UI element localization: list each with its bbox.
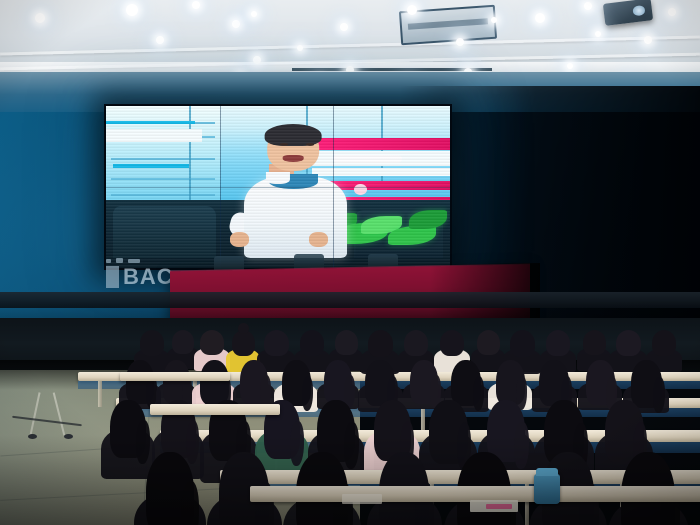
speaker-right-hand (309, 232, 328, 247)
screen-panel-seam (106, 187, 450, 188)
backdrop-pill-graphic (333, 155, 402, 163)
speaker-shirt (244, 177, 347, 258)
ceiling-downlight (126, 4, 138, 16)
desk-leg (98, 381, 102, 407)
speaker-left-hand (230, 232, 249, 247)
ceiling-downlight (232, 20, 240, 28)
ceiling-downlight (407, 5, 417, 15)
ceiling-downlight (192, 1, 200, 9)
attendee-hair (440, 330, 464, 356)
ceiling-downlight (340, 23, 348, 31)
mic-stand-foot (28, 434, 37, 439)
backdrop-cyan-bar (113, 164, 189, 168)
desk-paper (342, 494, 382, 504)
desk-top (120, 372, 230, 381)
desk-pink-item (486, 504, 512, 509)
speaker-eye-left (280, 143, 288, 146)
attendee-ponytail (473, 376, 484, 411)
ceiling-downlight (491, 17, 497, 23)
attendee-ponytail (514, 422, 528, 469)
studio-sofa-left-arm (113, 206, 216, 258)
attendee-hair (404, 330, 428, 356)
ceiling-downlight (535, 13, 545, 23)
speaker-collar-notch (266, 172, 290, 183)
attendee-hair (510, 330, 535, 357)
attendee-hair-bun (238, 323, 249, 334)
ceiling-downlight (584, 2, 592, 10)
video-wall[interactable] (104, 104, 452, 270)
attendee-ponytail (136, 420, 150, 464)
ceiling-downlight (456, 38, 464, 46)
attendee-hair (300, 330, 324, 356)
attendee-hair (616, 330, 641, 356)
desk-top (150, 404, 280, 415)
auditorium-photo: BAC (0, 0, 700, 525)
attendee-hair (546, 330, 570, 356)
backdrop-white-bar (106, 129, 202, 142)
ceiling-downlight (35, 13, 45, 23)
water-bottle-cap (536, 468, 558, 476)
ceiling-downlight (668, 8, 676, 16)
attendee-hair (652, 330, 676, 356)
wall-logo-block (106, 266, 119, 288)
attendee-ponytail (290, 421, 304, 466)
attendee-ponytail (344, 422, 358, 469)
wall-logo-text: BAC (123, 266, 174, 288)
ceiling-downlight (253, 56, 261, 64)
attendee-hair (368, 330, 393, 357)
ceiling-downlight (567, 63, 573, 69)
speaker-eye-right (306, 143, 314, 146)
ceiling-downlight (297, 45, 303, 51)
attendee-hair (583, 330, 606, 355)
attendee-hair (264, 330, 289, 356)
attendee-ponytail (186, 420, 199, 464)
ceiling-downlight (595, 31, 601, 37)
attendee-hair (200, 330, 224, 355)
attendee-hair (172, 330, 194, 354)
attendee-hair (335, 330, 358, 355)
ceiling-rail (292, 68, 492, 71)
backdrop-cyan-bar (106, 121, 195, 124)
wall-logo-marks (106, 258, 174, 263)
attendee-hair (232, 330, 255, 356)
ceiling-downlight (156, 36, 164, 44)
water-bottle (534, 474, 560, 504)
wall-logo: BAC (106, 258, 174, 288)
attendee-hair (477, 330, 500, 355)
mic-stand-foot (64, 434, 73, 439)
attendee-ponytail (181, 481, 199, 525)
attendee-hair (140, 330, 164, 356)
ceiling-downlight (644, 36, 652, 44)
video-wall-display (106, 106, 450, 268)
ceiling-downlight (251, 11, 257, 17)
attendee-ponytail (653, 377, 665, 413)
